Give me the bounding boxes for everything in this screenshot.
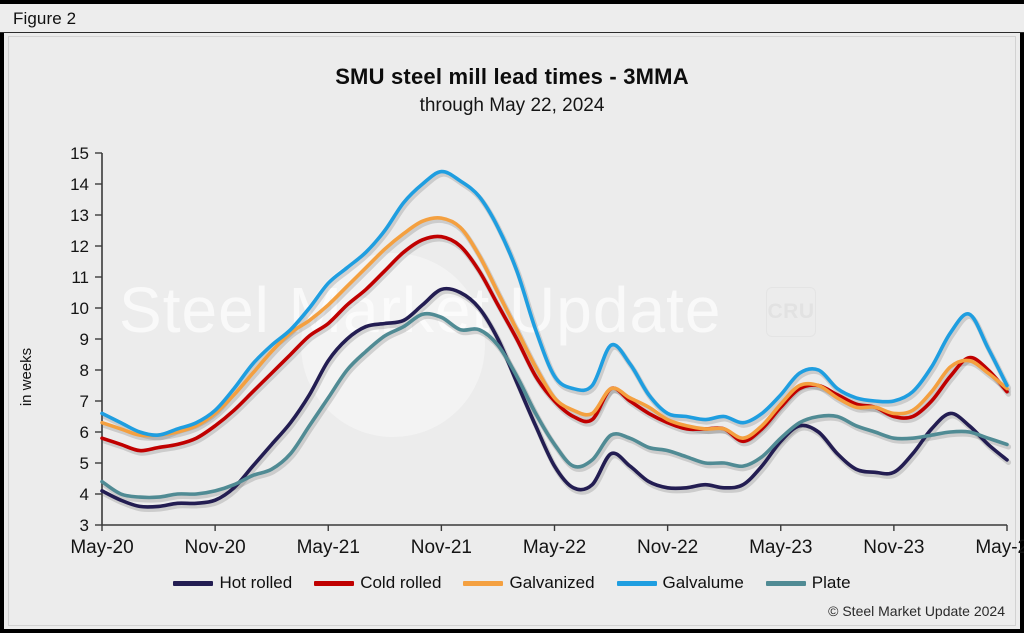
legend-label: Galvanized xyxy=(509,573,594,593)
legend-label: Plate xyxy=(812,573,851,593)
y-tick-label: 14 xyxy=(70,175,89,194)
plot-area: 3456789101112131415 May-20Nov-20May-21No… xyxy=(9,37,1017,627)
y-tick-label: 5 xyxy=(80,454,89,473)
legend-item-galvanized[interactable]: Galvanized xyxy=(463,573,594,593)
figure-number-label: Figure 2 xyxy=(13,9,76,29)
series-shadow-cold-rolled xyxy=(104,239,1009,453)
copyright-text: © Steel Market Update 2024 xyxy=(828,603,1005,619)
y-tick-label: 7 xyxy=(80,392,89,411)
figure-screenshot: Figure 2 SMU steel mill lead times - 3MM… xyxy=(0,0,1024,633)
y-tick-label: 9 xyxy=(80,330,89,349)
legend-item-plate[interactable]: Plate xyxy=(766,573,851,593)
x-tick-label: May-24 xyxy=(975,537,1024,558)
y-tick-label: 4 xyxy=(80,485,89,504)
chart-legend: Hot rolledCold rolledGalvanizedGalvalume… xyxy=(9,573,1015,593)
x-axis-ticks: May-20Nov-20May-21Nov-21May-22Nov-22May-… xyxy=(70,525,1024,558)
legend-label: Galvalume xyxy=(663,573,744,593)
y-tick-label: 15 xyxy=(70,144,89,163)
x-tick-label: May-20 xyxy=(70,537,133,558)
window-bottom-border xyxy=(0,629,1024,633)
x-tick-label: Nov-20 xyxy=(185,537,246,558)
y-axis-title: in weeks xyxy=(18,348,35,406)
legend-label: Hot rolled xyxy=(219,573,292,593)
window-left-border xyxy=(0,4,4,633)
legend-item-cold-rolled[interactable]: Cold rolled xyxy=(314,573,441,593)
x-tick-label: May-21 xyxy=(297,537,360,558)
chart-card: SMU steel mill lead times - 3MMA through… xyxy=(8,36,1016,626)
x-tick-label: May-23 xyxy=(749,537,812,558)
y-tick-label: 12 xyxy=(70,237,89,256)
y-axis-ticks: 3456789101112131415 xyxy=(70,144,102,535)
y-tick-label: 11 xyxy=(71,268,89,287)
y-tick-label: 3 xyxy=(80,516,89,535)
x-tick-label: Nov-23 xyxy=(863,537,924,558)
x-tick-label: May-22 xyxy=(523,537,586,558)
series-line-cold-rolled xyxy=(102,236,1007,450)
legend-item-galvalume[interactable]: Galvalume xyxy=(617,573,744,593)
legend-swatch-icon xyxy=(617,581,657,586)
y-tick-label: 6 xyxy=(80,423,89,442)
legend-item-hot-rolled[interactable]: Hot rolled xyxy=(173,573,292,593)
legend-swatch-icon xyxy=(766,581,806,586)
legend-swatch-icon xyxy=(463,581,503,586)
figure-header-bar: Figure 2 xyxy=(0,4,1024,33)
y-tick-label: 10 xyxy=(70,299,89,318)
series-lines xyxy=(102,172,1009,510)
y-tick-label: 13 xyxy=(70,206,89,225)
legend-swatch-icon xyxy=(173,581,213,586)
x-tick-label: Nov-22 xyxy=(637,537,698,558)
legend-swatch-icon xyxy=(314,581,354,586)
legend-label: Cold rolled xyxy=(360,573,441,593)
x-tick-label: Nov-21 xyxy=(411,537,472,558)
y-tick-label: 8 xyxy=(80,361,89,380)
